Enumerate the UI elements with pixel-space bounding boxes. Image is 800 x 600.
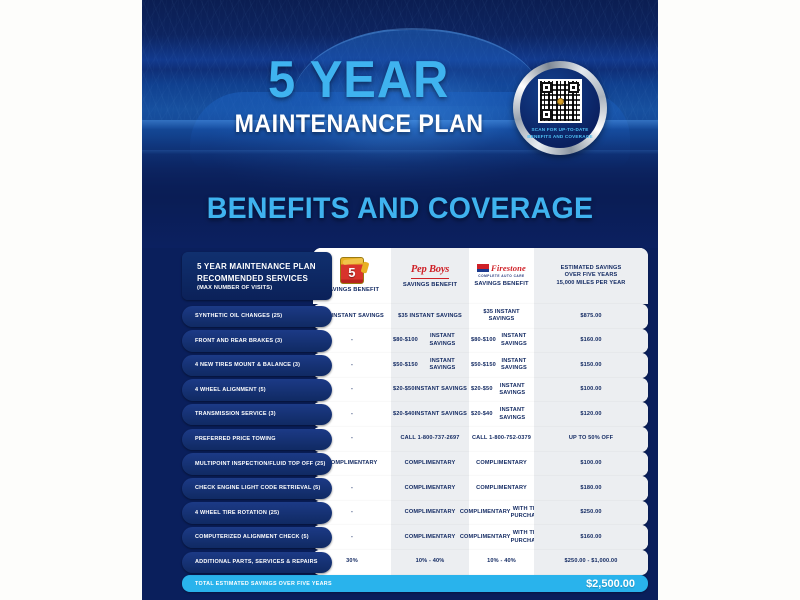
cell-firestone: COMPLIMENTARYWITH THE PURCHASE xyxy=(469,525,534,550)
cell-savings: $180.00 xyxy=(534,476,648,501)
cell-savings: $160.00 xyxy=(534,525,648,550)
qr-finder-top-left xyxy=(541,82,552,93)
row-service-label: MULTIPOINT INSPECTION/FLUID TOP OFF (25) xyxy=(182,453,332,474)
cell-pepboys: CALL 1-800-737-2697 xyxy=(391,427,469,452)
row-service-label: TRANSMISSION SERVICE (3) xyxy=(182,404,332,425)
estimated-savings-line-2: OVER FIVE YEARS xyxy=(565,272,618,280)
row-data-card: -$20-$50INSTANT SAVINGS$20-$50INSTANT SA… xyxy=(313,378,648,403)
qr-finder-bottom-left xyxy=(541,109,552,120)
qr-caption-line-1: SCAN FOR UP-TO-DATE xyxy=(527,127,593,134)
cell-pepboys: COMPLIMENTARY xyxy=(391,452,469,477)
row-service-label: 4 NEW TIRES MOUNT & BALANCE (3) xyxy=(182,355,332,376)
table-row: -$50-$150INSTANT SAVINGS$50-$150INSTANT … xyxy=(142,353,658,378)
cell-firestone: COMPLIMENTARYWITH THE PURCHASE xyxy=(469,501,534,526)
cell-savings: $120.00 xyxy=(534,402,648,427)
cell-pepboys: COMPLIMENTARY xyxy=(391,501,469,526)
row-data-card: -COMPLIMENTARYCOMPLIMENTARYWITH THE PURC… xyxy=(313,525,648,550)
cell-pepboys: COMPLIMENTARY xyxy=(391,476,469,501)
header-col-firestone: Firestone COMPLETE AUTO CARE SAVINGS BEN… xyxy=(469,248,534,304)
row-data-card: -COMPLIMENTARYCOMPLIMENTARY$180.00 xyxy=(313,476,648,501)
estimated-savings-line-3: 15,000 MILES PER YEAR xyxy=(557,280,626,288)
cell-pepboys: $20-$40INSTANT SAVINGS xyxy=(391,402,469,427)
cell-pepboys: $20-$50INSTANT SAVINGS xyxy=(391,378,469,403)
firestone-savings-benefit-label: SAVINGS BENEFIT xyxy=(474,281,528,289)
row-service-label: 4 WHEEL TIRE ROTATION (25) xyxy=(182,502,332,523)
cell-savings: $100.00 xyxy=(534,452,648,477)
firestone-logo-row: Firestone xyxy=(477,263,526,274)
service-name: SYNTHETIC OIL CHANGES (25) xyxy=(195,313,282,320)
service-name: 4 NEW TIRES MOUNT & BALANCE (3) xyxy=(195,362,300,369)
service-name: MULTIPOINT INSPECTION/FLUID TOP OFF (25) xyxy=(195,461,326,468)
qr-finder-top-right xyxy=(568,82,579,93)
table-row: COMPLIMENTARYCOMPLIMENTARYCOMPLIMENTARY$… xyxy=(142,452,658,477)
qr-code-icon[interactable] xyxy=(538,79,582,123)
table-row: -$20-$50INSTANT SAVINGS$20-$50INSTANT SA… xyxy=(142,378,658,403)
header-col-services: 5 YEAR MAINTENANCE PLAN RECOMMENDED SERV… xyxy=(182,252,332,300)
table-row: -$80-$100INSTANT SAVINGS$80-$100INSTANT … xyxy=(142,329,658,354)
take5-logo-text: 5 xyxy=(348,264,355,282)
qr-badge-inner: SCAN FOR UP-TO-DATE BENEFITS AND COVERAG… xyxy=(520,68,600,148)
pepboys-logo-icon: Pep Boys xyxy=(411,263,449,279)
qr-center-logo xyxy=(557,98,564,105)
service-name: FRONT AND REAR BRAKES (3) xyxy=(195,338,282,345)
section-title-benefits-coverage: BENEFITS AND COVERAGE xyxy=(155,192,645,226)
cell-pepboys: COMPLIMENTARY xyxy=(391,525,469,550)
firestone-logo-mark xyxy=(477,264,489,272)
table-row: -COMPLIMENTARYCOMPLIMENTARYWITH THE PURC… xyxy=(142,501,658,526)
firestone-logo-subtitle: COMPLETE AUTO CARE xyxy=(478,274,524,278)
oil-can-spout xyxy=(361,261,370,273)
take5-logo-icon: 5 xyxy=(340,257,364,284)
header-col-pepboys: Pep Boys SAVINGS BENEFIT xyxy=(391,248,469,304)
cell-firestone: $50-$150INSTANT SAVINGS xyxy=(469,353,534,378)
pepboys-savings-benefit-label: SAVINGS BENEFIT xyxy=(403,282,457,290)
table-row: -COMPLIMENTARYCOMPLIMENTARY$180.00CHECK … xyxy=(142,476,658,501)
take5-savings-benefit-label: SAVINGS BENEFIT xyxy=(325,287,379,295)
page-root: 5 YEAR MAINTENANCE PLAN BENEFITS AND COV… xyxy=(0,0,800,600)
total-savings-bar: TOTAL ESTIMATED SAVINGS OVER FIVE YEARS … xyxy=(182,575,648,592)
benefits-table: 5 SAVINGS BENEFIT Pep Boys SAVINGS BENEF… xyxy=(142,248,658,575)
table-header-row: 5 SAVINGS BENEFIT Pep Boys SAVINGS BENEF… xyxy=(142,248,658,304)
cell-firestone: $20-$50INSTANT SAVINGS xyxy=(469,378,534,403)
header-services-line-3: (MAX NUMBER OF VISITS) xyxy=(197,284,272,292)
total-savings-amount: $2,500.00 xyxy=(586,578,635,590)
row-service-label: PREFERRED PRICE TOWING xyxy=(182,429,332,450)
cell-firestone: $80-$100INSTANT SAVINGS xyxy=(469,329,534,354)
table-row: -$20-$40INSTANT SAVINGS$20-$40INSTANT SA… xyxy=(142,402,658,427)
firestone-logo-icon: Firestone COMPLETE AUTO CARE xyxy=(477,263,526,279)
table-body: $50 INSTANT SAVINGS$35 INSTANT SAVINGS$3… xyxy=(142,304,658,575)
row-data-card: -$80-$100INSTANT SAVINGS$80-$100INSTANT … xyxy=(313,329,648,354)
cell-savings: $100.00 xyxy=(534,378,648,403)
row-data-card: -$20-$40INSTANT SAVINGS$20-$40INSTANT SA… xyxy=(313,402,648,427)
cell-firestone: 10% - 40% xyxy=(469,550,534,575)
cell-savings: $150.00 xyxy=(534,353,648,378)
row-data-card: -$50-$150INSTANT SAVINGS$50-$150INSTANT … xyxy=(313,353,648,378)
service-name: PREFERRED PRICE TOWING xyxy=(195,436,276,443)
row-service-label: 4 WHEEL ALIGNMENT (5) xyxy=(182,379,332,400)
cell-firestone: CALL 1-800-752-0379 xyxy=(469,427,534,452)
cell-savings: $250.00 - $1,000.00 xyxy=(534,550,648,575)
cell-pepboys: $35 INSTANT SAVINGS xyxy=(391,304,469,329)
table-row: $50 INSTANT SAVINGS$35 INSTANT SAVINGS$3… xyxy=(142,304,658,329)
cell-firestone: COMPLIMENTARY xyxy=(469,476,534,501)
estimated-savings-line-1: ESTIMATED SAVINGS xyxy=(561,265,622,273)
cell-savings: UP TO 50% OFF xyxy=(534,427,648,452)
header-services-line-2: RECOMMENDED SERVICES xyxy=(197,273,308,285)
cell-savings: $250.00 xyxy=(534,501,648,526)
cell-pepboys: $50-$150INSTANT SAVINGS xyxy=(391,353,469,378)
service-name: TRANSMISSION SERVICE (3) xyxy=(195,411,276,418)
service-name: ADDITIONAL PARTS, SERVICES & REPAIRS xyxy=(195,559,318,566)
cell-firestone: $35 INSTANT SAVINGS xyxy=(469,304,534,329)
header-col-estimated-savings: ESTIMATED SAVINGS OVER FIVE YEARS 15,000… xyxy=(534,248,648,304)
header-services-line-1: 5 YEAR MAINTENANCE PLAN xyxy=(197,261,316,273)
row-service-label: ADDITIONAL PARTS, SERVICES & REPAIRS xyxy=(182,552,332,573)
row-service-label: FRONT AND REAR BRAKES (3) xyxy=(182,330,332,351)
cell-pepboys: $80-$100INSTANT SAVINGS xyxy=(391,329,469,354)
table-row: -CALL 1-800-737-2697CALL 1-800-752-0379U… xyxy=(142,427,658,452)
cell-firestone: $20-$40INSTANT SAVINGS xyxy=(469,402,534,427)
cell-firestone: COMPLIMENTARY xyxy=(469,452,534,477)
oil-can-icon: 5 xyxy=(340,257,364,284)
service-name: 4 WHEEL TIRE ROTATION (25) xyxy=(195,510,279,517)
table-row: 30%10% - 40%10% - 40%$250.00 - $1,000.00… xyxy=(142,550,658,575)
row-data-card: -COMPLIMENTARYCOMPLIMENTARYWITH THE PURC… xyxy=(313,501,648,526)
cell-pepboys: 10% - 40% xyxy=(391,550,469,575)
service-name: COMPUTERIZED ALIGNMENT CHECK (5) xyxy=(195,534,309,541)
cell-savings: $160.00 xyxy=(534,329,648,354)
table-row: -COMPLIMENTARYCOMPLIMENTARYWITH THE PURC… xyxy=(142,525,658,550)
cell-savings: $875.00 xyxy=(534,304,648,329)
service-name: 4 WHEEL ALIGNMENT (5) xyxy=(195,387,266,394)
service-name: CHECK ENGINE LIGHT CODE RETRIEVAL (5) xyxy=(195,485,320,492)
row-service-label: CHECK ENGINE LIGHT CODE RETRIEVAL (5) xyxy=(182,478,332,499)
row-data-card: -CALL 1-800-737-2697CALL 1-800-752-0379U… xyxy=(313,427,648,452)
total-savings-label: TOTAL ESTIMATED SAVINGS OVER FIVE YEARS xyxy=(195,581,332,587)
row-service-label: COMPUTERIZED ALIGNMENT CHECK (5) xyxy=(182,527,332,548)
header-data-card: 5 SAVINGS BENEFIT Pep Boys SAVINGS BENEF… xyxy=(313,248,648,304)
maintenance-plan-flyer: 5 YEAR MAINTENANCE PLAN BENEFITS AND COV… xyxy=(142,0,658,600)
qr-code-badge[interactable]: SCAN FOR UP-TO-DATE BENEFITS AND COVERAG… xyxy=(513,61,607,155)
firestone-logo-text: Firestone xyxy=(491,263,526,274)
row-data-card: 30%10% - 40%10% - 40%$250.00 - $1,000.00 xyxy=(313,550,648,575)
qr-caption: SCAN FOR UP-TO-DATE BENEFITS AND COVERAG… xyxy=(527,127,593,141)
row-service-label: SYNTHETIC OIL CHANGES (25) xyxy=(182,306,332,327)
qr-caption-line-2: BENEFITS AND COVERAGE xyxy=(527,134,593,141)
row-data-card: COMPLIMENTARYCOMPLIMENTARYCOMPLIMENTARY$… xyxy=(313,452,648,477)
row-data-card: $50 INSTANT SAVINGS$35 INSTANT SAVINGS$3… xyxy=(313,304,648,329)
